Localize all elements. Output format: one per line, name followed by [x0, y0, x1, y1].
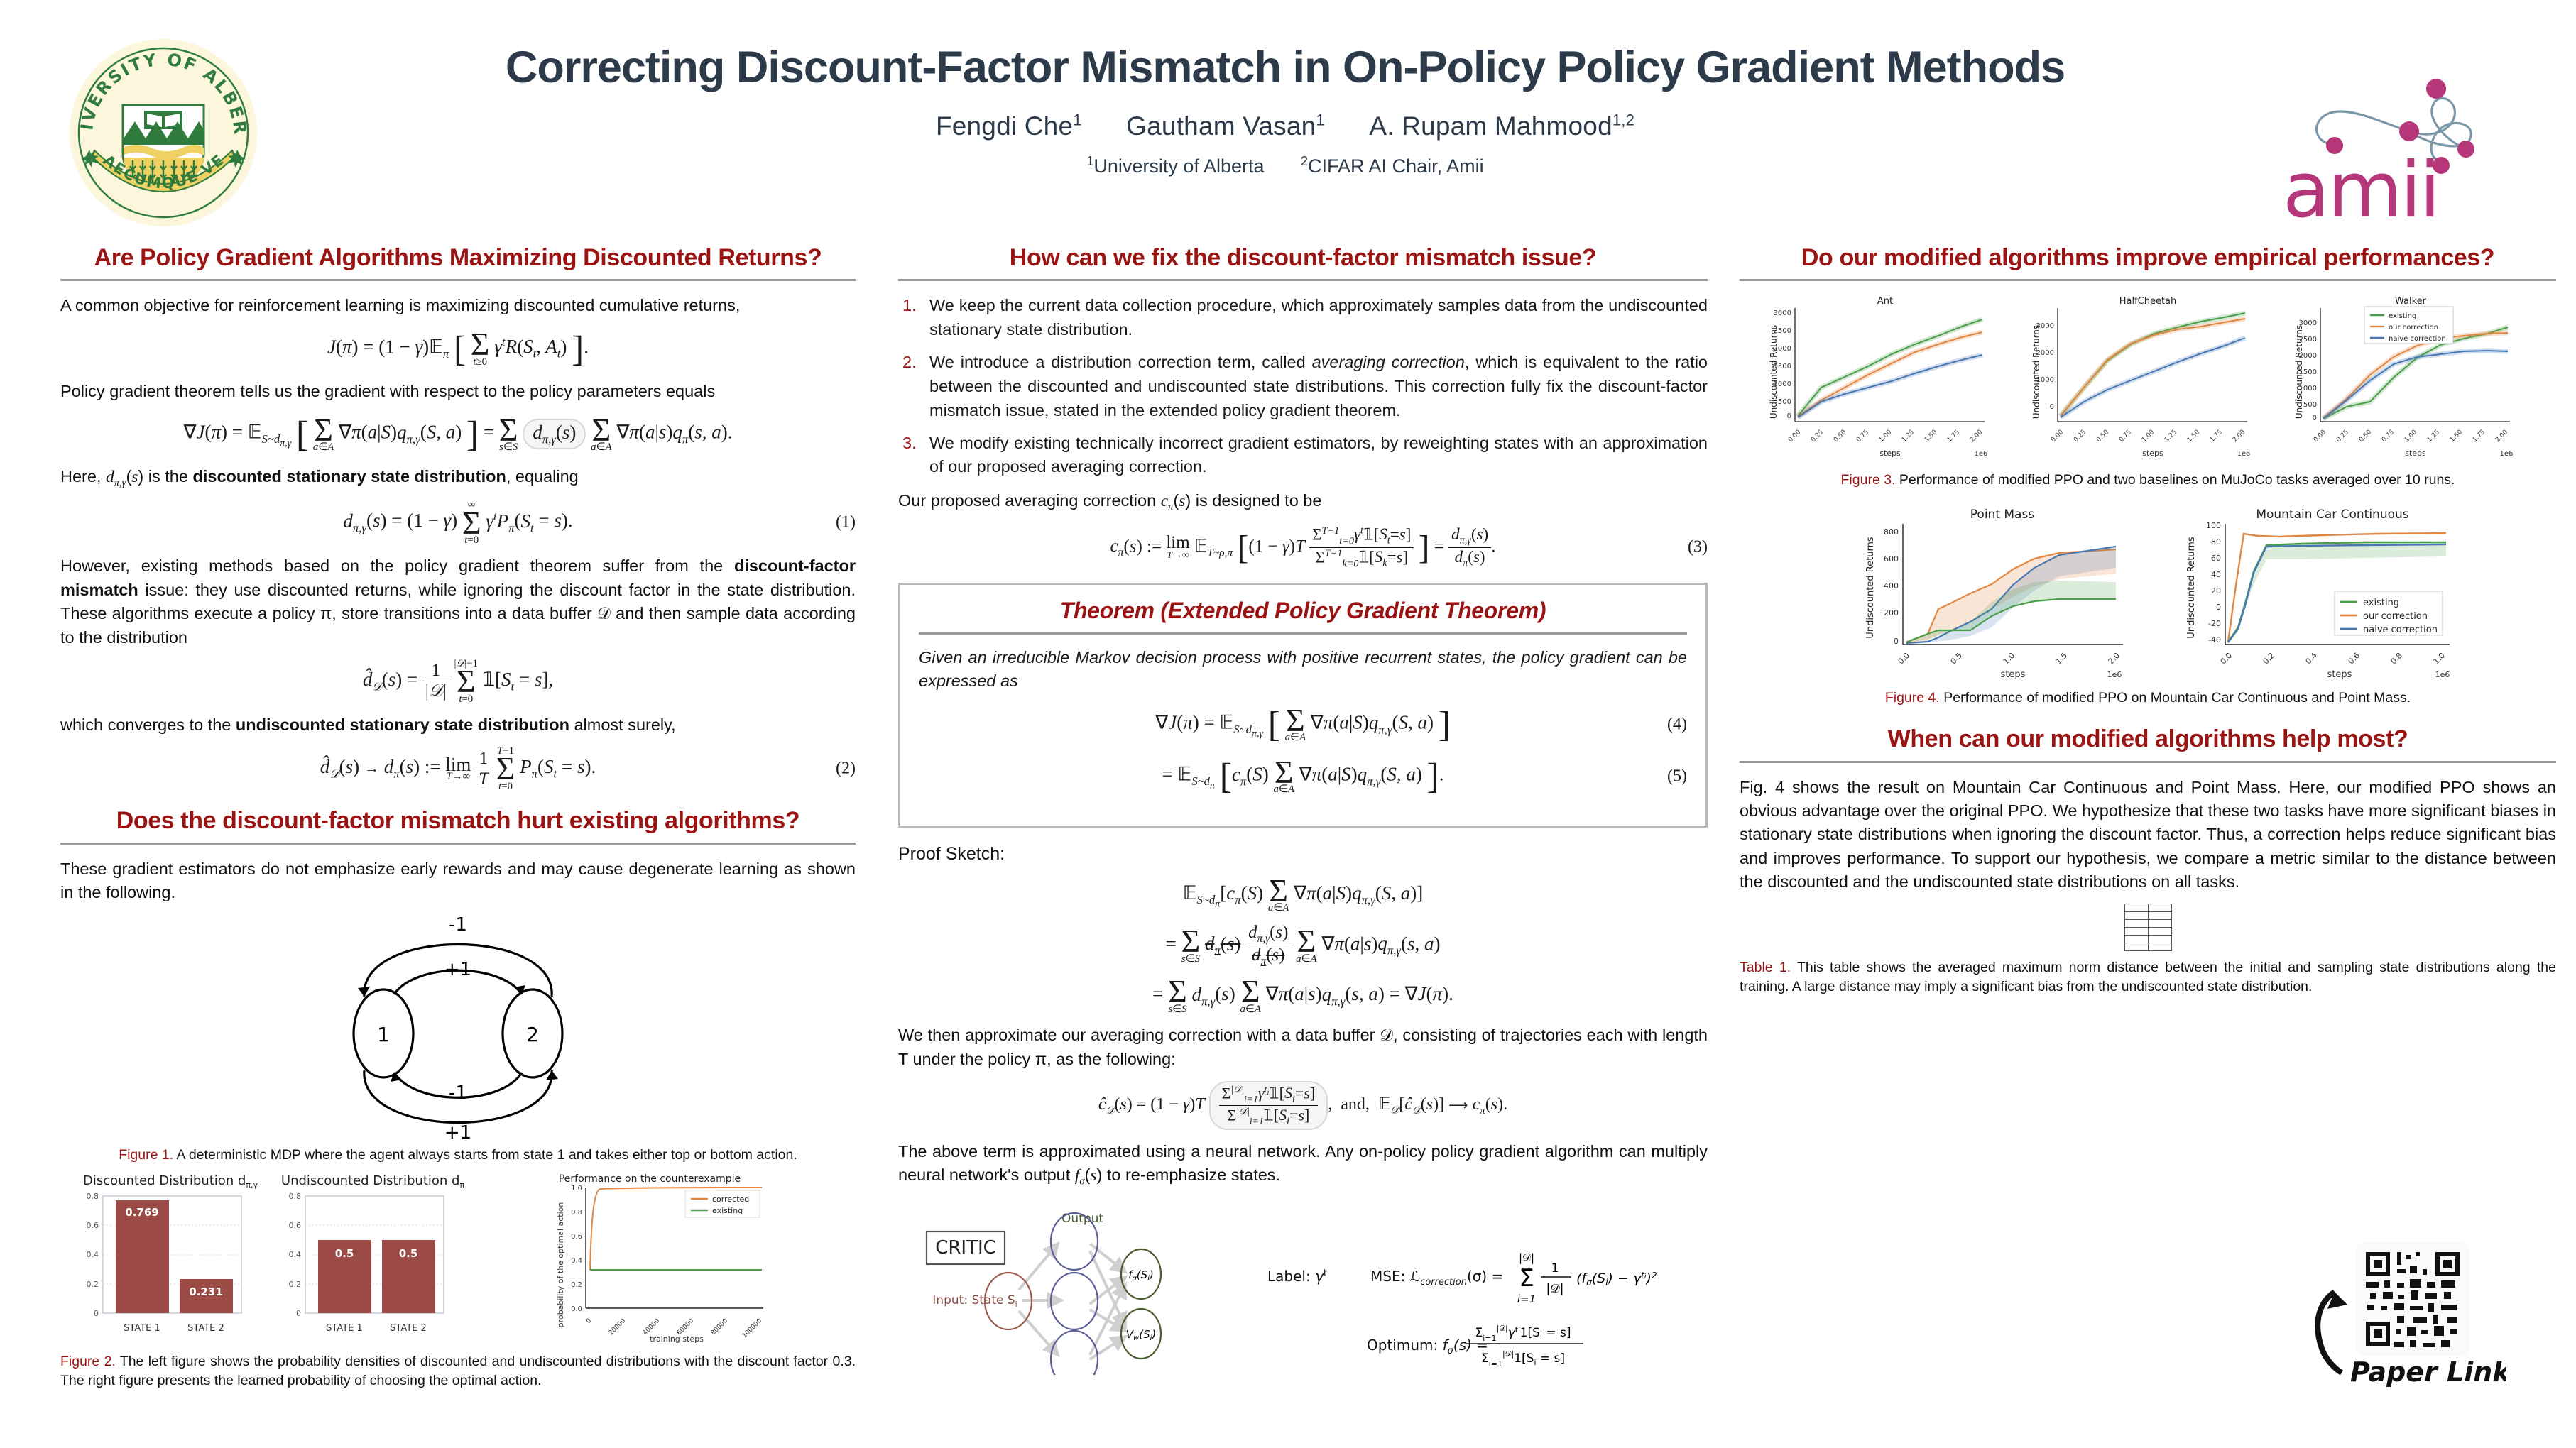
y-axis-label: probability of the optimal action	[556, 1202, 565, 1328]
equation-proof-line-1: 𝔼S~dπ[cπ(S) Σa∈A ∇π(a|S)qπ,γ(S, a)]	[898, 877, 1708, 913]
figure-2-charts: Discounted Distribution dπ,γ 0.80.60.4 0…	[60, 1169, 856, 1346]
mse-text: MSE: ℒcorrection(σ) =	[1370, 1268, 1503, 1288]
theorem-statement: Given an irreducible Markov decision pro…	[919, 646, 1687, 694]
mdp-label-outer-top: -1	[449, 914, 467, 936]
legend-label: our correction	[2363, 611, 2428, 622]
x-tick-label: 1.00	[1878, 429, 1893, 444]
chart-title: Point Mass	[1970, 508, 2035, 522]
table-row	[2124, 936, 2171, 943]
x-tick-label: 0.75	[2381, 429, 2396, 444]
affiliation-2: 2CIFAR AI Chair, Amii	[1301, 155, 1484, 177]
x-tick-label: 0.75	[2118, 429, 2133, 444]
highlighted-buffer-estimate: Σ|𝒟|i=1γti𝟙[Si=s]Σ|𝒟|i=1𝟙[Si=s]	[1209, 1081, 1328, 1130]
svg-text:0.8: 0.8	[87, 1192, 99, 1201]
figure-4-caption: Figure 4. Performance of modified PPO on…	[1740, 689, 2556, 708]
critic-label: CRITIC	[935, 1237, 996, 1258]
equation-buffer-correction: ĉ𝒟(s) = (1 − γ)T Σ|𝒟|i=1γti𝟙[Si=s]Σ|𝒟|i…	[898, 1081, 1708, 1130]
equation-number-1: (1)	[836, 513, 856, 532]
chart-ant: Ant Undiscounted Returns 300025002000 15…	[1769, 296, 1987, 458]
chart-legend: existing our correction naive correction	[2364, 307, 2453, 344]
svg-text:0: 0	[1894, 637, 1899, 646]
x-tick-label: 2.00	[2494, 429, 2509, 444]
divider	[898, 279, 1708, 281]
mse-sum-sigma: Σ	[1519, 1264, 1534, 1293]
svg-text:0: 0	[2050, 403, 2054, 411]
y-axis-label: Undiscounted Returns	[2186, 537, 2197, 639]
x-tick-label: 0.25	[2335, 429, 2350, 444]
fix-points-list: We keep the current data collection proc…	[898, 294, 1708, 479]
mdp-state-1: 1	[377, 1023, 390, 1046]
x-tick-label: 0.50	[1833, 429, 1848, 444]
x-tick-label: 0.0	[1896, 651, 1912, 667]
legend-label: existing	[2363, 598, 2399, 608]
svg-text:1.0: 1.0	[571, 1185, 582, 1192]
x-tick-label: 1.00	[2403, 429, 2418, 444]
chart-discounted-distribution: Discounted Distribution dπ,γ 0.80.60.4 0…	[83, 1173, 258, 1334]
x-exponent: 1e6	[2435, 670, 2450, 679]
svg-text:0.2: 0.2	[289, 1280, 302, 1289]
chart-title: Discounted Distribution dπ,γ	[83, 1173, 258, 1190]
x-axis-label: steps	[2327, 669, 2352, 680]
mdp-label-outer-bottom: +1	[444, 1122, 471, 1140]
equation-2: d̂𝒟(s) → dπ(s) := limT→∞ 1T T−1Σt=0 Pπ(S…	[60, 747, 856, 791]
svg-text:-40: -40	[2208, 635, 2221, 645]
equation-4: ∇J(π) = 𝔼S~dπ,γ [ Σa∈A ∇π(a|S)qπ,γ(S, a)…	[919, 703, 1687, 745]
divider	[919, 632, 1687, 635]
svg-text:2000: 2000	[2299, 352, 2317, 360]
output-node-correction-label: fσ(Si)	[1128, 1268, 1154, 1283]
x-tick-label: 1.0	[2002, 651, 2017, 667]
figure-3-caption: Figure 3. Performance of modified PPO an…	[1740, 471, 2556, 490]
paper-link-label: Paper Link	[2350, 1356, 2506, 1388]
svg-text:60: 60	[2211, 554, 2221, 563]
x-tick-label: 0.00	[1787, 429, 1802, 444]
x-tick-label: 0.50	[2358, 429, 2373, 444]
x-axis-label: steps	[2405, 449, 2426, 458]
university-of-alberta-logo: UNIVERSITY OF ALBERTA QUAECUMQUE VERA	[67, 37, 259, 229]
affiliation-list: 1University of Alberta 2CIFAR AI Chair, …	[398, 154, 2173, 177]
chart-title: Mountain Car Continuous	[2256, 508, 2408, 522]
poster-header: UNIVERSITY OF ALBERTA QUAECUMQUE VERA	[0, 0, 2576, 227]
x-exponent: 1e6	[2107, 670, 2122, 679]
author-2: Gautham Vasan1	[1126, 111, 1325, 141]
section-title-policy-gradient: Are Policy Gradient Algorithms Maximizin…	[60, 245, 856, 271]
legend-label: naive correction	[2363, 625, 2438, 635]
svg-text:3000: 3000	[1774, 309, 1791, 317]
x-tick-label: 0.75	[1855, 429, 1870, 444]
cell-distance	[2148, 936, 2171, 943]
x-exponent: 1e6	[2237, 450, 2251, 458]
svg-text:2000: 2000	[2036, 349, 2054, 357]
x-tick-label: 0.4	[2304, 651, 2320, 667]
affiliation-1: 1University of Alberta	[1086, 155, 1264, 177]
x-tick-label: 2.0	[2107, 651, 2122, 667]
x-tick-label: 1.75	[1946, 429, 1961, 444]
optimum-denominator: Σi=1|𝒟|1[Si = s]	[1481, 1349, 1565, 1369]
svg-text:0: 0	[1787, 412, 1791, 420]
paragraph-objective: A common objective for reinforcement lea…	[60, 294, 856, 317]
chart-title: Performance on the counterexample	[559, 1173, 741, 1185]
x-axis-label: training steps	[650, 1334, 704, 1344]
critic-network-diagram: CRITIC Input: State Si Output fσ(Si) Vw(…	[898, 1197, 1708, 1375]
left-column: Are Policy Gradient Algorithms Maximizin…	[60, 245, 856, 1391]
figure-2-caption: Figure 2. The left figure shows the prob…	[60, 1352, 856, 1391]
x-tick-label: 1.5	[2054, 651, 2070, 667]
legend-label: existing	[2389, 312, 2416, 320]
chart-title: Walker	[2395, 296, 2427, 307]
x-exponent: 1e6	[2500, 450, 2514, 458]
optimum-numerator: Σi=1|𝒟|γti1[Si = s]	[1475, 1324, 1571, 1343]
svg-text:400: 400	[1884, 581, 1899, 591]
cell-task-name	[2124, 920, 2148, 928]
x-tick-label: 20000	[608, 1317, 628, 1337]
cell-task-name	[2124, 928, 2148, 936]
mdp-state-2: 2	[526, 1023, 539, 1046]
table-1-caption: Table 1. This table shows the averaged m…	[1740, 958, 2556, 997]
svg-text:1000: 1000	[1774, 380, 1791, 388]
paragraph-pg-theorem: Policy gradient theorem tells us the gra…	[60, 380, 856, 403]
bar-value-label: 0.5	[399, 1247, 418, 1260]
paragraph-averaging-correction: Our proposed averaging correction cπ(s) …	[898, 489, 1708, 515]
cell-distance	[2148, 912, 2171, 920]
y-axis-label: Undiscounted Returns	[2031, 325, 2041, 419]
legend-label: corrected	[712, 1195, 749, 1204]
author-3: A. Rupam Mahmood1,2	[1369, 111, 1634, 141]
equation-buffer-distribution: d̂𝒟(s) = 1|𝒟| |𝒟|−1Σt=0 𝟙[St = s],	[60, 659, 856, 703]
list-item: We modify existing technically incorrect…	[898, 432, 1708, 480]
x-tick-label: 0.00	[2313, 429, 2327, 444]
cell-distance	[2148, 943, 2171, 951]
section-title-mismatch-hurt: Does the discount-factor mismatch hurt e…	[60, 808, 856, 834]
equation-5: = 𝔼S~dπ [cπ(S) Σa∈A ∇π(a|S)qπ,γ(S, a) ].…	[919, 755, 1687, 797]
equation-number-2: (2)	[836, 759, 856, 779]
y-axis-label: Undiscounted Returns	[1865, 537, 1876, 639]
highlighted-discounted-distribution: dπ,γ(s)	[523, 419, 586, 449]
svg-text:0.6: 0.6	[87, 1221, 99, 1230]
x-tick-label: STATE 1	[326, 1323, 363, 1334]
cell-task-name	[2124, 936, 2148, 943]
equation-1: dπ,γ(s) = (1 − γ) ∞Σt=0 γtPπ(St = s). (1…	[60, 500, 856, 544]
svg-text:0.2: 0.2	[87, 1280, 99, 1289]
author-1: Fengdi Che1	[936, 111, 1082, 141]
divider	[1740, 761, 2556, 763]
x-tick-label: STATE 1	[124, 1323, 160, 1334]
table-header-row	[2124, 904, 2171, 912]
author-list: Fengdi Che1 Gautham Vasan1 A. Rupam Mahm…	[398, 111, 2173, 141]
svg-text:500: 500	[2303, 401, 2317, 409]
x-axis-label: steps	[2001, 669, 2026, 680]
column-header-task-name	[2124, 904, 2148, 912]
svg-text:-20: -20	[2208, 619, 2221, 628]
x-axis-label: steps	[1879, 449, 1901, 458]
svg-text:1000: 1000	[2036, 376, 2054, 384]
distribution-distance-table	[2124, 904, 2172, 951]
bar-value-label: 0.769	[125, 1206, 158, 1219]
proof-sketch-label: Proof Sketch:	[898, 842, 1708, 867]
svg-text:0.2: 0.2	[571, 1281, 582, 1289]
cell-distance	[2148, 928, 2171, 936]
middle-column: How can we fix the discount-factor misma…	[898, 245, 1708, 1375]
chart-halfcheetah: HalfCheetah Undiscounted Returns 3000200…	[2031, 296, 2250, 458]
svg-text:0: 0	[2216, 603, 2221, 612]
svg-text:20: 20	[2211, 586, 2221, 596]
mse-residual: (fσ(Si) − γti)2	[1576, 1271, 1657, 1288]
theorem-title: Theorem (Extended Policy Gradient Theore…	[919, 598, 1687, 624]
x-tick-label: STATE 2	[187, 1323, 224, 1334]
x-tick-label: 0	[585, 1317, 593, 1325]
legend-label: our correction	[2389, 324, 2438, 331]
chart-walker: Walker Undiscounted Returns 300025002000…	[2294, 296, 2513, 458]
mdp-label-inner-top: +1	[444, 959, 471, 980]
equation-number-3: (3)	[1688, 538, 1708, 557]
divider	[60, 843, 856, 845]
figure-4-charts: Point Mass Undiscounted Returns 80060040…	[1740, 503, 2556, 680]
svg-text:0.8: 0.8	[289, 1192, 302, 1201]
svg-text:0.6: 0.6	[571, 1233, 582, 1241]
svg-text:1500: 1500	[2299, 368, 2317, 376]
output-node-value-label: Vw(Si)	[1126, 1328, 1156, 1342]
x-tick-label: 2.00	[1969, 429, 1984, 444]
x-tick-label: 1.75	[2209, 429, 2224, 444]
x-tick-label: 1.25	[2426, 429, 2441, 444]
svg-text:|𝒟|: |𝒟|	[1546, 1282, 1563, 1296]
svg-text:3000: 3000	[2036, 322, 2054, 330]
svg-text:0: 0	[2313, 415, 2317, 422]
list-item: We introduce a distribution correction t…	[898, 351, 1708, 422]
x-axis-label: steps	[2142, 449, 2163, 458]
cell-task-name	[2124, 912, 2148, 920]
svg-text:200: 200	[1884, 608, 1899, 618]
svg-text:2500: 2500	[2299, 336, 2317, 344]
x-tick-label: 0.5	[1949, 651, 1965, 667]
bar-value-label: 0.231	[189, 1285, 222, 1298]
table-row	[2124, 912, 2171, 920]
x-tick-label: 0.25	[1810, 429, 1825, 444]
figure-3-charts: Ant Undiscounted Returns 300025002000 15…	[1740, 294, 2556, 461]
y-axis-label: Undiscounted Returns	[1769, 325, 1779, 419]
svg-text:2500: 2500	[1774, 327, 1791, 335]
equation-number-4: (4)	[1667, 715, 1687, 734]
x-tick-label: 100000	[741, 1317, 764, 1340]
x-tick-label: 1.75	[2472, 429, 2487, 444]
x-tick-label: 0.6	[2347, 651, 2362, 667]
x-tick-label: 0.50	[2095, 429, 2110, 444]
chart-undiscounted-distribution: Undiscounted Distribution dπ 0.80.60.4 0…	[281, 1173, 465, 1334]
equation-number-5: (5)	[1667, 767, 1687, 786]
chart-counterexample-performance: Performance on the counterexample probab…	[556, 1173, 763, 1344]
x-tick-label: 1.0	[2432, 651, 2447, 667]
svg-text:0.8: 0.8	[571, 1209, 582, 1217]
svg-text:3000: 3000	[2299, 319, 2317, 327]
svg-text:500: 500	[1778, 398, 1791, 406]
divider	[1740, 279, 2556, 281]
equation-policy-gradient: ∇J(π) = 𝔼S~dπ,γ [ Σa∈A ∇π(a|S)qπ,γ(S, a)…	[60, 413, 856, 455]
list-item: We keep the current data collection proc…	[898, 294, 1708, 342]
cell-distance	[2148, 920, 2171, 928]
paragraph-approximate-buffer: We then approximate our averaging correc…	[898, 1024, 1708, 1071]
x-tick-label: 1.25	[1901, 429, 1916, 444]
section-title-how-to-fix: How can we fix the discount-factor misma…	[898, 245, 1708, 271]
amii-wordmark: amii	[2283, 146, 2438, 224]
chart-point-mass: Point Mass Undiscounted Returns 80060040…	[1865, 508, 2123, 680]
paragraph-when-help: Fig. 4 shows the result on Mountain Car …	[1740, 776, 2556, 894]
chart-legend: existing our correction naive correction	[2335, 591, 2443, 635]
paper-link-area[interactable]: Paper Link	[2251, 1235, 2506, 1441]
mse-sum-bottom: i=1	[1517, 1293, 1536, 1305]
x-tick-label: 0.0	[2219, 651, 2234, 667]
svg-text:0.0: 0.0	[571, 1305, 582, 1313]
amii-logo: amii	[2269, 39, 2553, 224]
paragraph-neural-network: The above term is approximated using a n…	[898, 1140, 1708, 1190]
svg-text:0.6: 0.6	[289, 1221, 302, 1230]
chart-legend: corrected existing	[685, 1190, 760, 1217]
svg-text:600: 600	[1884, 554, 1899, 564]
paragraph-converges: which converges to the undiscounted stat…	[60, 713, 856, 737]
table-row	[2124, 920, 2171, 928]
mse-sum-top: |𝒟|	[1519, 1251, 1534, 1264]
x-tick-label: 1.50	[2186, 429, 2201, 444]
svg-text:1500: 1500	[1774, 363, 1791, 371]
section-title-empirical: Do our modified algorithms improve empir…	[1740, 245, 2556, 271]
svg-text:1000: 1000	[2299, 385, 2317, 393]
svg-text:40: 40	[2211, 570, 2221, 579]
page-title: Correcting Discount-Factor Mismatch in O…	[398, 43, 2173, 93]
svg-text:1: 1	[1551, 1261, 1559, 1276]
x-tick-label: 1.00	[2141, 429, 2156, 444]
table-row	[2124, 943, 2171, 951]
chart-title: Ant	[1877, 296, 1893, 307]
cell-task-name	[2124, 943, 2148, 951]
chart-mountain-car-continuous: Mountain Car Continuous Undiscounted Ret…	[2186, 508, 2450, 680]
section-title-when-help: When can our modified algorithms help mo…	[1740, 726, 2556, 752]
x-tick-label: 2.00	[2232, 429, 2247, 444]
equation-3: cπ(s) := limT→∞ 𝔼T~ρ,π [(1 − γ)T ΣT−1t=0…	[898, 525, 1708, 571]
paragraph-degenerate: These gradient estimators do not emphasi…	[60, 857, 856, 905]
paragraph-mismatch: However, existing methods based on the p…	[60, 554, 856, 649]
divider	[60, 279, 856, 281]
legend-label: naive correction	[2389, 335, 2446, 343]
svg-text:2000: 2000	[1774, 345, 1791, 353]
svg-text:80: 80	[2211, 537, 2221, 547]
mdp-label-inner-bottom: -1	[449, 1082, 467, 1104]
x-tick-label: 0.00	[2050, 429, 2065, 444]
paragraph-discounted-dist: Here, dπ,γ(s) is the discounted stationa…	[60, 465, 856, 490]
x-tick-label: STATE 2	[390, 1323, 427, 1334]
x-tick-label: 1.50	[2449, 429, 2464, 444]
bar-value-label: 0.5	[335, 1247, 354, 1260]
svg-text:800: 800	[1884, 527, 1899, 537]
x-tick-label: 80000	[710, 1317, 730, 1337]
svg-text:0.4: 0.4	[87, 1250, 99, 1259]
right-column: Do our modified algorithms improve empir…	[1740, 245, 2556, 997]
equation-proof-line-2: = Σs∈S dπ(s) dπ,γ(s)dπ(s) Σa∈A ∇π(a|s)qπ…	[898, 923, 1708, 969]
x-tick-label: 0.2	[2261, 651, 2277, 667]
table-row	[2124, 928, 2171, 936]
figure-1-caption: Figure 1. A deterministic MDP where the …	[60, 1146, 856, 1165]
optimum-text: Optimum: fσ(s) =	[1367, 1337, 1488, 1356]
column-header-distance	[2148, 904, 2171, 912]
svg-text:0: 0	[94, 1309, 99, 1318]
legend-label: existing	[712, 1206, 743, 1215]
label-text: Label: γti	[1267, 1268, 1329, 1285]
x-tick-label: 0.8	[2389, 651, 2405, 667]
equation-objective: J(π) = (1 − γ)𝔼π [ Σt≥0 γtR(St, At) ].	[60, 328, 856, 370]
chart-title: HalfCheetah	[2119, 296, 2177, 307]
mdp-diagram: 1 2 -1 +1 -1 +1	[60, 913, 856, 1140]
x-tick-label: 1.50	[1923, 429, 1938, 444]
x-tick-label: 0.25	[2073, 429, 2087, 444]
chart-title: Undiscounted Distribution dπ	[281, 1173, 465, 1190]
input-label: Input: State Si	[932, 1293, 1017, 1309]
svg-text:100: 100	[2206, 521, 2221, 530]
svg-text:0.4: 0.4	[571, 1257, 582, 1265]
theorem-box: Theorem (Extended Policy Gradient Theore…	[898, 583, 1708, 828]
svg-text:0.4: 0.4	[289, 1250, 302, 1259]
x-exponent: 1e6	[1975, 450, 1988, 458]
equation-proof-line-3: = Σs∈S dπ,γ(s) Σa∈A ∇π(a|s)qπ,γ(s, a) = …	[898, 978, 1708, 1014]
svg-text:0: 0	[296, 1309, 301, 1318]
x-tick-label: 1.25	[2163, 429, 2178, 444]
